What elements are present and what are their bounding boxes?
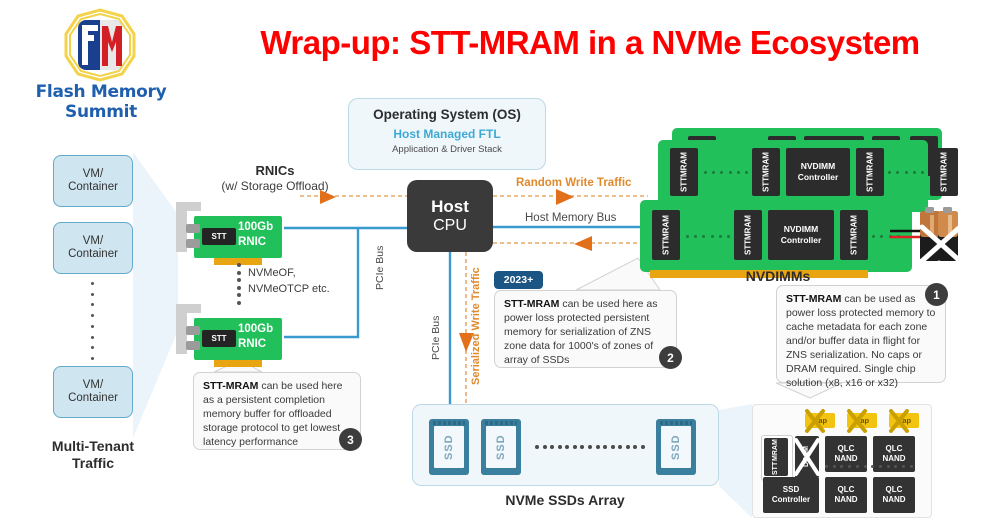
chip-line2: MRAM [849,215,858,240]
stt-mram-chip: STTMRAM [652,210,680,260]
ctrl-line1: NVDIMM [784,224,818,234]
nvdimm-module: STTMRAM STTMRAM NVDIMM Controller STTMRA… [640,200,912,272]
nic-port-icon [186,326,200,335]
callout-3: STT-MRAM can be used here as a persisten… [193,372,361,450]
nvdimm-ellipsis-dots [888,170,924,174]
host-cpu-block: Host CPU [407,180,493,252]
nic-bracket-top [185,304,201,313]
nic-label-line2: RNIC [238,338,266,350]
nic-port-icon [186,224,200,233]
nic-label-line1: 100Gb [238,323,273,335]
callout-2: STT-MRAM can be used here as power loss … [494,290,677,368]
ssd-drive: SSD [429,419,469,475]
rnic-title: RNICs [180,163,370,178]
chip-line2: MRAM [939,152,948,177]
multi-tenant-line2: Traffic [72,455,114,471]
qlc-nand-chip: QLC NAND [873,477,915,513]
ssd-ellipsis-dots [535,445,645,449]
nvdimms-label: NVDIMMs [688,268,868,284]
vm-label-line1: VM/ [83,235,103,247]
chip-line2: NAND [882,495,905,504]
nic-bracket-top [185,202,201,211]
protocol-line2: NVMeOTCP etc. [248,283,330,295]
ssd-label: SSD [486,426,516,468]
chip-line2: NAND [834,454,857,463]
callout-1-number: 1 [925,283,948,306]
ssd-internals-panel: Cap Cap Cap STTMRAM DRAM QLC NAND QLC NA… [752,404,932,518]
nvme-ssd-array: SSD SSD SSD [412,404,719,486]
chip-line1: STT [865,177,874,192]
chip-line1: STT [772,461,780,474]
nvdimm-ellipsis-dots [704,170,748,174]
dram-chip: DRAM [795,436,819,478]
chip-line2: MRAM [865,152,874,177]
nic-label: 100Gb RNIC [238,322,284,352]
ctrl-line1: NVDIMM [801,161,835,171]
chip-line2: NAND [834,495,857,504]
nic-stt-chip: STT [202,330,236,347]
callout-2-number: 2 [659,346,682,369]
pcie-bus-label: PCIe Bus [374,246,386,290]
pcie-bus-label: PCIe Bus [430,316,442,360]
nic-port-icon [186,239,200,248]
multi-tenant-traffic-label: Multi-Tenant Traffic [22,438,164,472]
internals-ellipsis-dots [825,465,913,469]
rnic-card: STT 100Gb RNIC [176,310,284,362]
chip-line1: QLC [886,485,903,494]
ssd-pins [485,421,517,425]
capacitor-chip: Cap [805,413,835,428]
vm-label-line2: Container [68,248,118,260]
nic-label-line1: 100Gb [238,221,273,233]
chip-line1: STT [939,177,948,192]
ctrl-line2: Controller [798,172,839,182]
host-cpu-line2: CPU [433,217,467,235]
ctrl-line1: SSD [783,485,799,494]
callout-3-lead: STT-MRAM [203,380,258,392]
stt-mram-chip: STTMRAM [856,148,884,196]
chip-line1: QLC [838,485,855,494]
ssd-label: SSD [434,426,464,468]
chip-line1: STT [661,240,670,255]
nvdimm-controller-chip: NVDIMM Controller [768,210,834,260]
ctrl-line2: Controller [781,235,822,245]
nvdimm-controller-chip: NVDIMM Controller [786,148,850,196]
serialized-write-traffic-label: Serialized Write Traffic [470,267,482,385]
os-subtitle: Host Managed FTL [349,127,545,141]
nic-label: 100Gb RNIC [238,220,284,250]
callout-1: STT-MRAM can be used as power loss prote… [776,285,946,383]
ssd-controller-chip: SSD Controller [763,477,819,513]
nic-port-icon [186,341,200,350]
vm-label-line1: VM/ [83,168,103,180]
nvdimm-ellipsis-dots [686,234,730,238]
ssd-label: SSD [661,426,691,468]
os-title: Operating System (OS) [349,107,545,122]
multi-tenant-line1: Multi-Tenant [52,438,134,454]
chip-line2: MRAM [761,152,770,177]
chip-line1: STT [679,177,688,192]
capacitor-chip: Cap [889,413,919,428]
rnic-card: STT 100Gb RNIC [176,208,284,260]
chip-line2: MRAM [743,215,752,240]
nic-stt-chip: STT [202,228,236,245]
chip-line2: MRAM [679,152,688,177]
os-caption: Application & Driver Stack [349,144,545,155]
chip-line1: STT [761,177,770,192]
callout-2-lead: STT-MRAM [504,298,559,310]
stt-mram-chip: STTMRAM [734,210,762,260]
stt-mram-chip: STTMRAM [840,210,868,260]
vm-container-box: VM/ Container [53,222,133,274]
random-write-traffic-label: Random Write Traffic [516,177,631,189]
ssd-body: SSD [434,426,464,468]
rnic-subtitle: (w/ Storage Offload) [170,179,380,193]
ssd-drive: SSD [481,419,521,475]
vm-label-line2: Container [68,392,118,404]
chip-line1: QLC [838,444,855,453]
nvme-ssd-array-label: NVMe SSDs Array [440,492,690,508]
dram-chip-label: DRAM [803,447,811,468]
vm-ellipsis-dots [90,282,94,360]
vm-label-line1: VM/ [83,379,103,391]
vm-container-box: VM/ Container [53,366,133,418]
qlc-nand-chip: QLC NAND [825,477,867,513]
nic-gold-connector [214,360,262,367]
stt-mram-chip: STTMRAM [764,438,788,476]
callout-1-text: can be used as power loss protected memo… [786,293,935,389]
ssd-body: SSD [661,426,691,468]
year-badge: 2023+ [494,271,543,289]
battery-crossed-out-icon [916,205,972,265]
stt-mram-chip: STTMRAM [930,148,958,196]
callout-1-lead: STT-MRAM [786,293,841,305]
chip-line2: MRAM [661,215,670,240]
host-memory-bus-label: Host Memory Bus [525,212,616,224]
stt-mram-chip: STTMRAM [670,148,698,196]
chip-line2: MRAM [772,440,780,462]
host-cpu-line1: Host [431,197,469,217]
capacitor-chip: Cap [847,413,877,428]
vm-label-line2: Container [68,181,118,193]
callout-3-number: 3 [339,428,362,451]
chip-line1: STT [849,240,858,255]
ssd-pins [660,421,692,425]
operating-system-box: Operating System (OS) Host Managed FTL A… [348,98,546,170]
nic-label-line2: RNIC [238,236,266,248]
vm-container-box: VM/ Container [53,155,133,207]
ssd-drive: SSD [656,419,696,475]
ssd-body: SSD [486,426,516,468]
chip-line1: QLC [886,444,903,453]
chip-line1: STT [743,240,752,255]
protocol-line1: NVMeOF, [248,267,296,279]
rnic-ellipsis-dots [237,263,242,305]
chip-line2: NAND [882,454,905,463]
ssd-pins [433,421,465,425]
ctrl-line2: Controller [772,495,810,504]
stt-mram-chip: STTMRAM [752,148,780,196]
protocol-label: NVMeOF, NVMeOTCP etc. [248,266,368,298]
